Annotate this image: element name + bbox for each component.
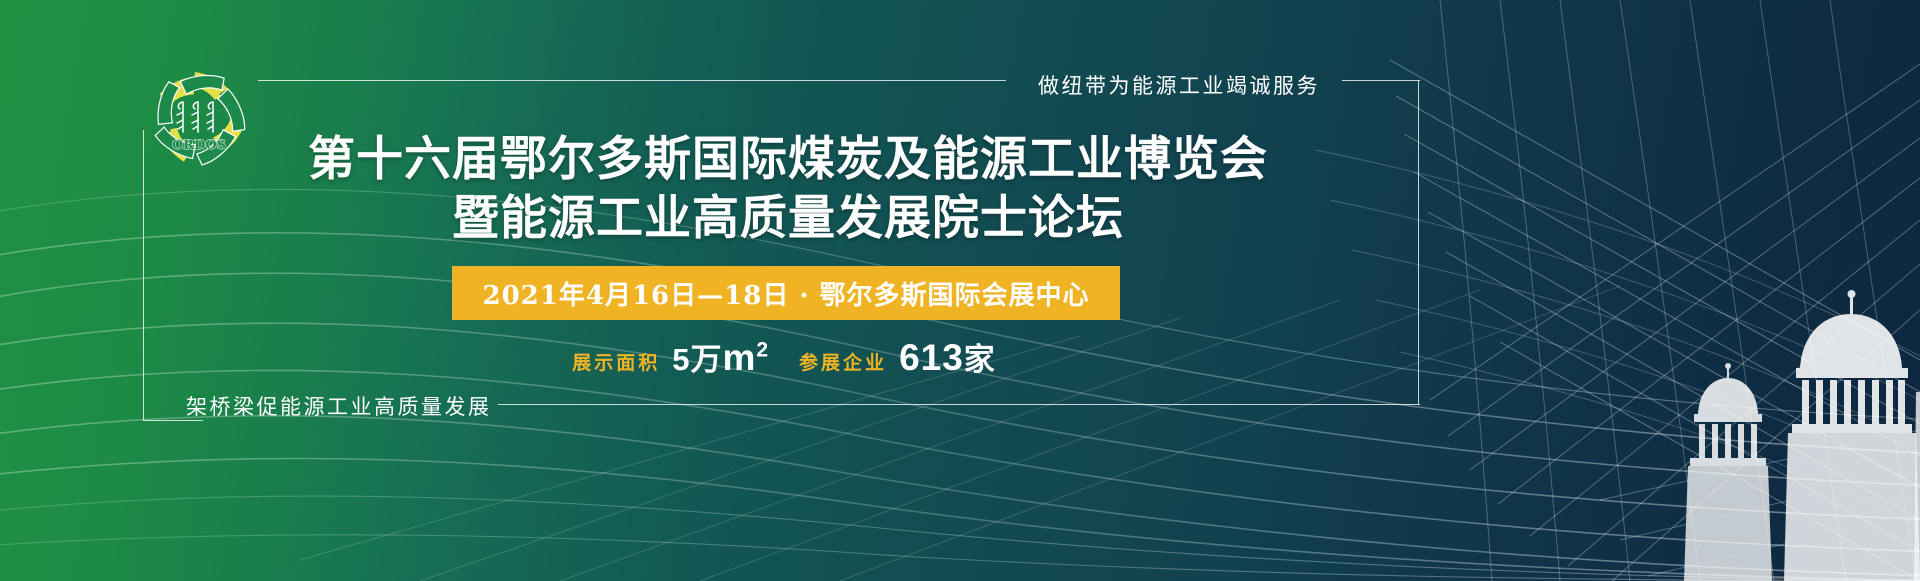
stat-exhibition-area-superscript: 2	[756, 339, 769, 362]
event-title-block: 第十六届鄂尔多斯国际煤炭及能源工业博览会 暨能源工业高质量发展院士论坛	[0, 130, 1576, 248]
date-venue-text: 2021年4月16日—18日 · 鄂尔多斯国际会展中心	[483, 275, 1090, 312]
stat-exhibition-area-value: 5万m2	[668, 338, 773, 380]
rule-top-left	[258, 80, 1006, 81]
stat-exhibitor-count-number: 613	[899, 337, 964, 378]
rule-bottom-mid	[498, 404, 1288, 405]
event-banner: ORDOS 做纽带为能源工业竭诚服务 架桥梁促能源工业高质量发展 第十六届鄂尔多…	[0, 0, 1920, 581]
stat-exhibition-area-unit: m	[722, 337, 756, 378]
rule-right-lower	[1288, 404, 1420, 405]
stat-exhibitor-count-value: 613家	[895, 338, 1000, 380]
stat-exhibitor-count-label: 参展企业	[799, 348, 887, 380]
event-stats-row: 展示面积 5万m2 参展企业 613家	[452, 330, 1120, 380]
stat-exhibition-area-label: 展示面积	[572, 348, 660, 380]
tagline-top-right: 做纽带为能源工业竭诚服务	[1038, 70, 1320, 100]
stat-exhibitor-count-unit: 家	[964, 342, 996, 377]
event-title-line-1: 第十六届鄂尔多斯国际煤炭及能源工业博览会	[0, 130, 1576, 189]
rule-top-right	[1342, 80, 1420, 81]
stat-exhibition-area-number: 5万	[672, 342, 722, 377]
stat-exhibition-area: 展示面积 5万m2	[572, 338, 773, 380]
dome-building-illustration	[1684, 290, 1920, 581]
event-title-line-2: 暨能源工业高质量发展院士论坛	[0, 189, 1576, 248]
tagline-bottom-left: 架桥梁促能源工业高质量发展	[186, 391, 492, 421]
date-venue-bar: 2021年4月16日—18日 · 鄂尔多斯国际会展中心	[452, 266, 1120, 320]
stat-exhibitor-count: 参展企业 613家	[799, 338, 1000, 380]
